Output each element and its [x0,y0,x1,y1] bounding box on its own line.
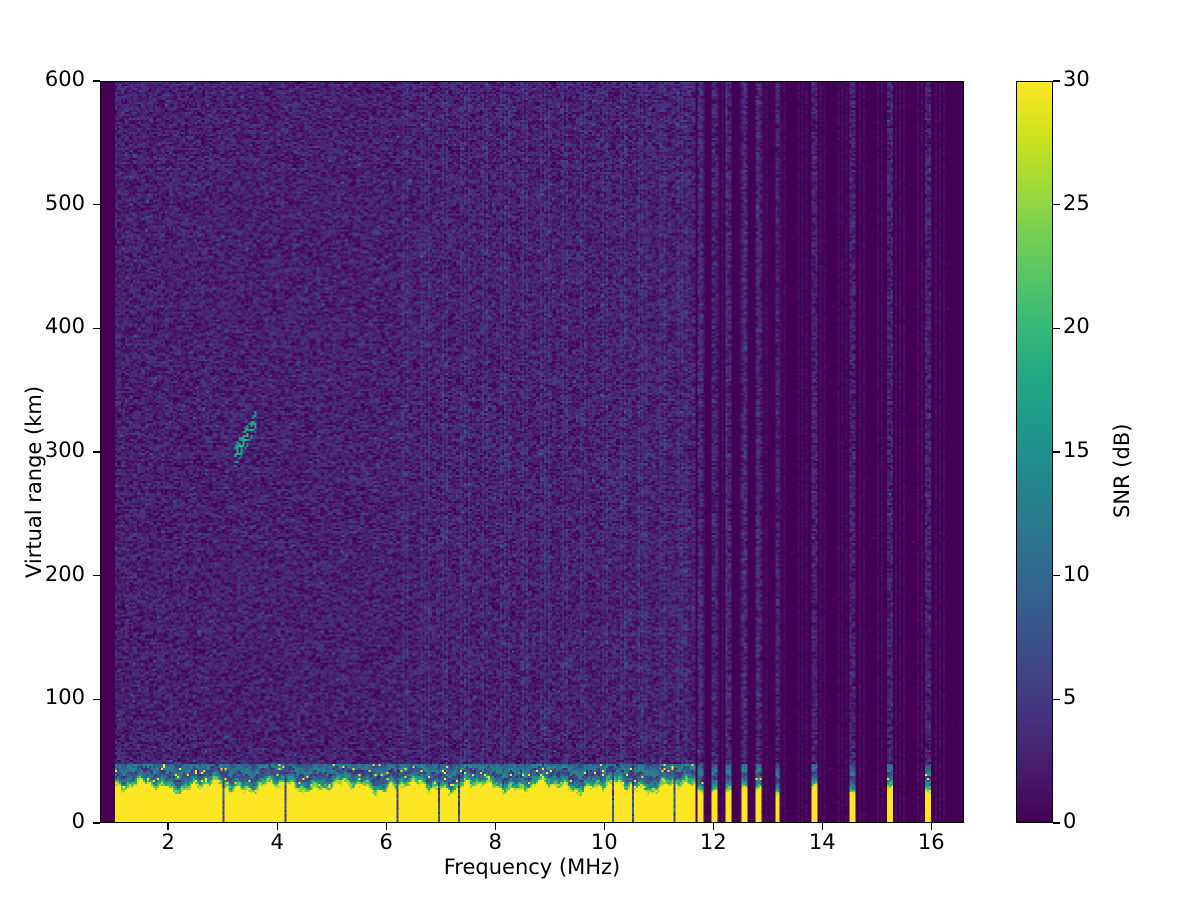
y-tick-mark [93,575,100,576]
colorbar-tick-mark [1053,575,1060,576]
y-tick-mark [93,699,100,700]
y-tick-label: 100 [5,685,85,709]
colorbar-tick-label: 20 [1063,314,1090,338]
x-tick-label: 12 [673,830,753,854]
colorbar-tick-label: 15 [1063,438,1090,462]
x-tick-label: 2 [128,830,208,854]
x-tick-label: 8 [455,830,535,854]
y-tick-label: 200 [5,562,85,586]
colorbar-tick-label: 30 [1063,67,1090,91]
colorbar-tick-mark [1053,80,1060,81]
colorbar-tick-label: 0 [1063,809,1076,833]
y-tick-mark [93,822,100,823]
x-tick-mark [386,823,387,830]
x-tick-label: 14 [782,830,862,854]
ionogram-figure: IRF Kiruna Ionosonde KI167 2025-11-08 13… [0,0,1200,900]
y-tick-label: 400 [5,314,85,338]
colorbar-label: SNR (dB) [1110,424,1134,518]
colorbar-tick-mark [1053,822,1060,823]
x-tick-mark [931,823,932,830]
x-tick-label: 4 [237,830,317,854]
x-tick-mark [713,823,714,830]
x-tick-mark [495,823,496,830]
x-tick-mark [822,823,823,830]
colorbar-tick-label: 10 [1063,562,1090,586]
ionogram-heatmap[interactable] [101,82,963,822]
x-tick-label: 10 [564,830,644,854]
x-tick-mark [604,823,605,830]
colorbar[interactable] [1016,81,1053,823]
x-tick-mark [167,823,168,830]
y-tick-mark [93,80,100,81]
x-tick-label: 16 [891,830,971,854]
x-tick-mark [277,823,278,830]
y-axis-label: Virtual range (km) [22,386,46,578]
x-tick-label: 6 [346,830,426,854]
colorbar-tick-mark [1053,328,1060,329]
colorbar-tick-mark [1053,699,1060,700]
y-tick-label: 600 [5,67,85,91]
colorbar-gradient [1017,82,1052,822]
colorbar-tick-label: 25 [1063,191,1090,215]
y-tick-mark [93,204,100,205]
y-tick-label: 500 [5,191,85,215]
y-tick-mark [93,328,100,329]
y-tick-label: 0 [5,809,85,833]
colorbar-tick-label: 5 [1063,685,1076,709]
colorbar-tick-mark [1053,204,1060,205]
x-axis-label: Frequency (MHz) [100,855,964,879]
y-tick-label: 300 [5,438,85,462]
y-tick-mark [93,451,100,452]
colorbar-tick-mark [1053,451,1060,452]
plot-area[interactable] [100,81,964,823]
